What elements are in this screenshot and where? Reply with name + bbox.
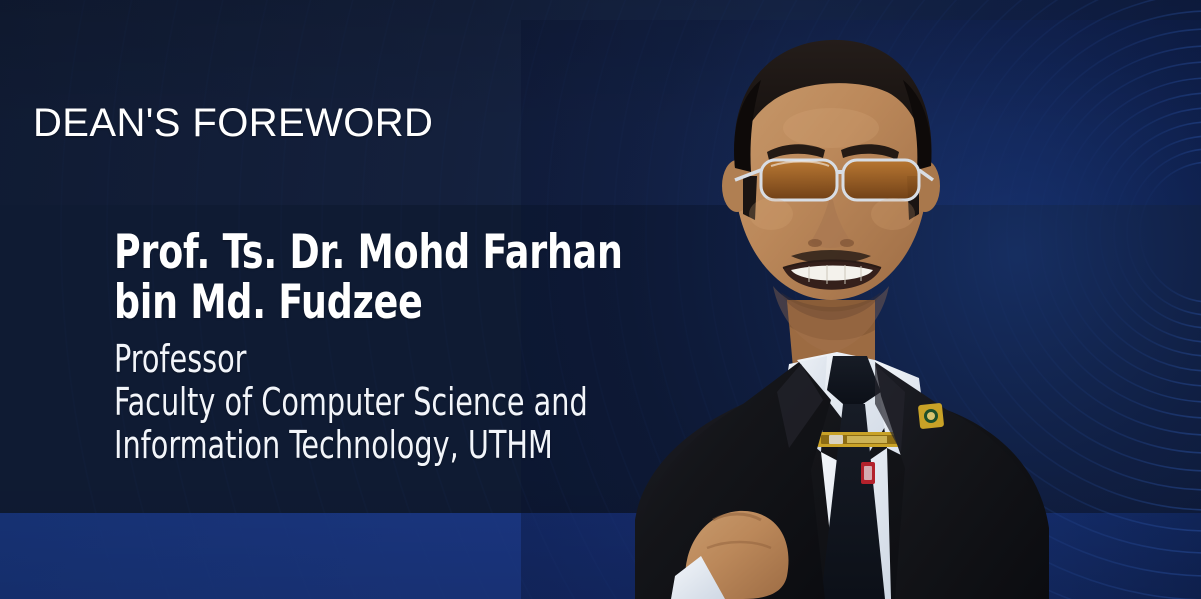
dean-title-line-2: Faculty of Computer Science and	[114, 381, 652, 424]
dean-identity-block: Prof. Ts. Dr. Mohd Farhan bin Md. Fudzee…	[114, 228, 754, 467]
background-band-bottom	[0, 513, 1201, 599]
dean-title-line-1: Professor	[114, 338, 652, 381]
page-title: DEAN'S FOREWORD	[33, 101, 433, 146]
deans-foreword-banner: DEAN'S FOREWORD Prof. Ts. Dr. Mohd Farha…	[0, 0, 1201, 599]
dean-name-line-1: Prof. Ts. Dr. Mohd Farhan	[114, 228, 664, 278]
dean-name-line-2: bin Md. Fudzee	[114, 278, 664, 328]
dean-title-line-3: Information Technology, UTHM	[114, 424, 652, 467]
dean-title-list: Professor Faculty of Computer Science an…	[114, 338, 754, 467]
